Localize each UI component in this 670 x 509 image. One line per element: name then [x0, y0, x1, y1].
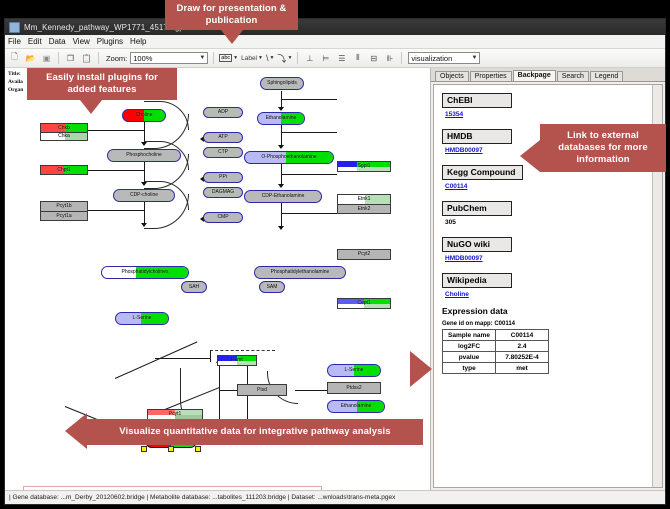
arrow-down-icon	[278, 107, 284, 111]
gene-pisd[interactable]: Pisd	[237, 384, 287, 396]
align-left-icon[interactable]: ⊨	[319, 52, 332, 65]
metabolite-l-serine-left[interactable]: L-Serine	[115, 312, 169, 325]
gene-chpt1[interactable]: Chpt1	[40, 165, 88, 175]
node-label: PPi	[219, 175, 227, 180]
label-tool-label: Label	[241, 55, 257, 62]
expr-val-log2fc: 2.4	[496, 341, 549, 352]
table-row: Sample name C00114	[443, 330, 549, 341]
tab-legend[interactable]: Legend	[590, 71, 623, 81]
gene-pcyt1b[interactable]: Pcyt1b	[40, 201, 88, 211]
group-icon[interactable]: ⊪	[383, 52, 396, 65]
expr-val-type: met	[496, 363, 549, 374]
metabolite-sam[interactable]: SAM	[259, 281, 285, 293]
node-label: Ethanolamine	[341, 404, 372, 409]
line-tool-dropdown[interactable]: \ ▼	[266, 53, 274, 63]
node-label: CTP	[218, 150, 228, 155]
gene-pcyt2[interactable]: Pcyt2	[337, 249, 391, 260]
metabolite-ppi[interactable]: PPi	[203, 172, 243, 183]
callout-plugins-text: Easily install plugins for added feature…	[33, 72, 171, 96]
pathway-canvas[interactable]: Title: Availa Organ	[5, 68, 431, 490]
tab-search[interactable]: Search	[557, 71, 589, 81]
callout-plugins-arrow-icon	[80, 100, 102, 114]
node-label: Sgpl1	[358, 164, 371, 169]
node-label: Pisd	[257, 388, 267, 393]
menu-item-help[interactable]: Help	[130, 37, 146, 46]
status-bar-text: | Gene database: ...m_Derby_20120602.bri…	[9, 494, 395, 501]
node-label: Pemt	[231, 358, 243, 363]
copy-icon[interactable]: ❐	[64, 52, 77, 65]
distribute-horizontal-icon[interactable]: ⦀	[351, 52, 364, 65]
connector-tool-dropdown[interactable]: ⤵ ▼	[277, 52, 292, 65]
metabolite-choline-top[interactable]: Choline	[122, 109, 166, 122]
side-panel-tabs: Objects Properties Backpage Search Legen…	[431, 68, 665, 82]
callout-visualize: Visualize quantitative data for integrat…	[87, 419, 423, 445]
db-header-nugo-wiki: NuGO wiki	[442, 237, 512, 252]
tab-objects[interactable]: Objects	[435, 71, 469, 81]
expr-key-log2fc: log2FC	[443, 341, 496, 352]
toolbar-separator-3	[213, 52, 214, 64]
db-link-wikipedia[interactable]: Choline	[445, 291, 654, 298]
menu-bar: File Edit Data View Plugins Help	[5, 35, 665, 49]
callout-draw-text: Draw for presentation & publication	[171, 3, 292, 27]
db-link-chebi[interactable]: 15354	[445, 111, 654, 118]
callout-visualize-arrow-left-icon	[65, 413, 87, 449]
gene-cept1[interactable]: Cept1	[337, 298, 391, 309]
distribute-vertical-icon[interactable]: ☰	[335, 52, 348, 65]
table-row: pvalue 7.80252E-4	[443, 352, 549, 363]
expr-key-pvalue: pvalue	[443, 352, 496, 363]
node-label: CMP	[217, 215, 228, 220]
db-header-hmdb: HMDB	[442, 129, 512, 144]
expr-key-type: type	[443, 363, 496, 374]
menu-item-view[interactable]: View	[73, 37, 90, 46]
menu-item-file[interactable]: File	[8, 37, 21, 46]
edge-pemt-down	[210, 350, 211, 362]
edge-chk-to-spine	[88, 130, 144, 131]
edge-ptdss2-right	[295, 390, 327, 391]
metabolite-ethanolamine-top[interactable]: Ethanolamine	[257, 112, 305, 125]
font-tool-dropdown[interactable]: abc ▼	[219, 54, 238, 62]
metabolite-o-phosphoethanolamine[interactable]: O-Phosphoethanolamine	[244, 151, 334, 164]
toolbar-separator-5	[401, 52, 402, 64]
chevron-down-icon: ▼	[199, 55, 205, 61]
backpage-entry-nugo: NuGO wiki HMDB00097	[442, 234, 654, 262]
chevron-down-icon: ▼	[287, 55, 292, 61]
canvas-meta-availability: Availa	[8, 79, 23, 85]
table-row: log2FC 2.4	[443, 341, 549, 352]
edge-cept1-to-spine	[281, 213, 337, 214]
expression-data-title: Expression data	[442, 306, 654, 316]
node-label: Etnk2	[358, 207, 371, 212]
metabolite-l-serine-right[interactable]: L-Serine	[327, 364, 381, 377]
gene-etnk2[interactable]: Etnk2	[337, 204, 391, 214]
menu-item-plugins[interactable]: Plugins	[97, 37, 123, 46]
node-label: L-Serine	[345, 368, 364, 373]
metabolite-adp[interactable]: ADP	[203, 107, 243, 118]
stack-icon[interactable]: ⊟	[367, 52, 380, 65]
node-label: SAM	[267, 285, 278, 290]
node-label: O-Phosphoethanolamine	[261, 155, 316, 160]
node-label: Pcyt1b	[56, 204, 71, 209]
metabolite-ctp[interactable]: CTP	[203, 147, 243, 158]
node-label: Phosphocholine	[126, 153, 162, 158]
gene-chka[interactable]: Chka	[40, 132, 88, 141]
arrow-down-icon	[278, 145, 284, 149]
canvas-meta-title: Title:	[8, 71, 21, 77]
paste-icon[interactable]: 📋	[80, 52, 93, 65]
gene-chkb[interactable]: Chkb	[40, 123, 88, 132]
callout-link: Link to external databases for more info…	[540, 124, 666, 172]
tool-bar: 🗋 📂 ▣ ❐ 📋 Zoom: 100% ▼ abc ▼ Label ▼ \	[5, 49, 665, 68]
expr-val-sample-name: C00114	[496, 330, 549, 341]
callout-draw: Draw for presentation & publication	[165, 0, 298, 30]
chevron-down-icon: ▼	[471, 55, 477, 61]
label-tool-dropdown[interactable]: Label ▼	[241, 55, 263, 62]
db-header-wikipedia: Wikipedia	[442, 273, 512, 288]
zoom-label: Zoom:	[106, 54, 127, 63]
edge-etnk-to-spine	[281, 132, 337, 133]
metabolite-dagmag[interactable]: DAGMAG	[203, 187, 243, 198]
backpage-entry-chebi: ChEBI 15354	[442, 90, 654, 118]
edge-ethanolamine-to-phosphoethanolamine	[281, 125, 282, 147]
callout-visualize-arrow-right-icon	[410, 351, 432, 387]
node-label: CDP-choline	[130, 193, 158, 198]
edge-cdpethanolamine-to-ptdethanolamine	[281, 203, 282, 228]
font-tool-icon: abc	[219, 54, 232, 62]
save-icon[interactable]: ▣	[40, 52, 53, 65]
callout-draw-arrow-icon	[221, 30, 243, 44]
expr-val-pvalue: 7.80252E-4	[496, 352, 549, 363]
node-label: Pcyt1	[169, 412, 182, 417]
node-label: Ptdss2	[346, 386, 361, 391]
node-label: Chkb	[58, 126, 70, 131]
gene-ptdss2[interactable]: Ptdss2	[327, 382, 381, 394]
visualization-value: visualization	[411, 54, 452, 63]
menu-item-edit[interactable]: Edit	[28, 37, 42, 46]
node-label: SAH	[189, 285, 199, 290]
callout-visualize-text: Visualize quantitative data for integrat…	[119, 426, 390, 438]
tab-backpage[interactable]: Backpage	[513, 70, 556, 81]
title-bar: Mm_Kennedy_pathway_WP1771_45176.gpml	[5, 19, 665, 35]
edge-phosphoethanolamine-to-cdpethanolamine	[281, 164, 282, 186]
open-folder-icon[interactable]: 📂	[24, 52, 37, 65]
handle-sw[interactable]	[141, 446, 147, 452]
screenshot-root: Mm_Kennedy_pathway_WP1771_45176.gpml Fil…	[0, 0, 670, 509]
node-label: Pcyt1a	[56, 214, 71, 219]
align-center-icon[interactable]: ⊥	[303, 52, 316, 65]
metabolite-ethanolamine-bottom[interactable]: Ethanolamine	[327, 400, 385, 413]
arrow-down-icon	[278, 226, 284, 230]
expr-key-sample-name: Sample name	[443, 330, 496, 341]
db-link-nugo-wiki[interactable]: HMDB00097	[445, 255, 654, 262]
db-link-kegg-compound[interactable]: C00114	[445, 183, 654, 190]
node-label: Choline	[136, 113, 153, 118]
edge-chpt1-to-spine	[88, 170, 144, 171]
node-label: ATP	[218, 135, 227, 140]
chevron-down-icon: ▼	[269, 55, 274, 61]
callout-link-arrow-icon	[520, 140, 540, 172]
zoom-combobox[interactable]: 100% ▼	[130, 52, 208, 64]
canvas-meta-organism: Organ	[8, 87, 23, 93]
metabolite-phosphatidylethanolamine[interactable]: Phosphatidylethanolamine	[254, 266, 346, 279]
node-label: Etnk1	[358, 197, 371, 202]
gene-pcyt1a[interactable]: Pcyt1a	[40, 211, 88, 221]
node-label: Pcyt2	[358, 252, 371, 257]
node-label: L-Serine	[133, 316, 152, 321]
app-icon	[9, 22, 20, 33]
metabolite-cmp[interactable]: CMP	[203, 212, 243, 223]
metabolite-cdp-choline[interactable]: CDP-choline	[113, 189, 175, 202]
new-file-icon[interactable]: 🗋	[8, 52, 21, 65]
handle-s[interactable]	[168, 446, 174, 452]
node-label: Phosphatidylethanolamine	[271, 270, 330, 275]
node-label: Chpt1	[57, 168, 70, 173]
chevron-down-icon: ▼	[233, 55, 238, 61]
node-label: CDP-Ethanolamine	[262, 194, 305, 199]
line-tool-icon: \	[266, 53, 269, 63]
handle-se[interactable]	[195, 446, 201, 452]
metabolite-phosphocholine[interactable]: Phosphocholine	[107, 149, 181, 162]
zoom-value: 100%	[133, 54, 152, 63]
gene-pemt[interactable]: Pemt	[217, 355, 257, 366]
status-bar: | Gene database: ...m_Derby_20120602.bri…	[5, 490, 665, 504]
edge-sgpl1-to-spine	[281, 99, 337, 100]
gene-sgpl1[interactable]: Sgpl1	[337, 161, 391, 172]
node-label: Chka	[58, 134, 70, 139]
arrow-down-icon	[278, 184, 284, 188]
backpage-entry-wikipedia: Wikipedia Choline	[442, 270, 654, 298]
db-value-pubchem: 305	[445, 219, 654, 226]
toolbar-separator-2	[98, 52, 99, 64]
node-label: Phosphatidylcholines	[122, 270, 169, 275]
node-label: DAGMAG	[212, 190, 234, 195]
metabolite-sah[interactable]: SAH	[181, 281, 207, 293]
callout-share: Share on Wikipathways.org	[23, 486, 322, 490]
metabolite-sphingolipids[interactable]: Sphingolipids	[260, 77, 304, 90]
edge-pemt-dashed	[210, 350, 275, 351]
db-header-kegg-compound: Kegg Compound	[442, 165, 523, 180]
node-label: Ethanolamine	[266, 116, 297, 121]
node-label: ADP	[218, 110, 228, 115]
visualization-combobox[interactable]: visualization ▼	[408, 52, 480, 64]
table-row: type met	[443, 363, 549, 374]
connector-tool-icon: ⤵	[277, 52, 286, 65]
menu-item-data[interactable]: Data	[49, 37, 66, 46]
edge-pcyt1-to-spine	[88, 210, 144, 211]
db-header-pubchem: PubChem	[442, 201, 512, 216]
chevron-down-icon: ▼	[258, 55, 263, 61]
pathvisio-window: Mm_Kennedy_pathway_WP1771_45176.gpml Fil…	[4, 18, 666, 505]
callout-plugins: Easily install plugins for added feature…	[27, 68, 177, 100]
expression-table: Sample name C00114 log2FC 2.4 pvalue 7.8…	[442, 329, 549, 374]
metabolite-cdp-ethanolamine[interactable]: CDP-Ethanolamine	[244, 190, 322, 203]
gene-etnk1[interactable]: Etnk1	[337, 194, 391, 204]
tab-properties[interactable]: Properties	[470, 71, 512, 81]
gene-id-line: Gene id on mapp: C00114	[442, 321, 654, 327]
toolbar-separator-4	[297, 52, 298, 64]
node-label: Cept1	[357, 301, 370, 306]
backpage-entry-pubchem: PubChem 305	[442, 198, 654, 226]
metabolite-phosphatidylcholines[interactable]: Phosphatidylcholines	[101, 266, 189, 279]
db-header-chebi: ChEBI	[442, 93, 512, 108]
expression-quad-blue	[338, 162, 357, 167]
toolbar-separator-1	[58, 52, 59, 64]
edge-pcyt2-to-spine	[281, 174, 337, 175]
edge-sah-link	[155, 358, 210, 359]
node-label: Sphingolipids	[267, 81, 297, 86]
metabolite-atp[interactable]: ATP	[203, 132, 243, 143]
callout-link-text: Link to external databases for more info…	[546, 130, 660, 166]
